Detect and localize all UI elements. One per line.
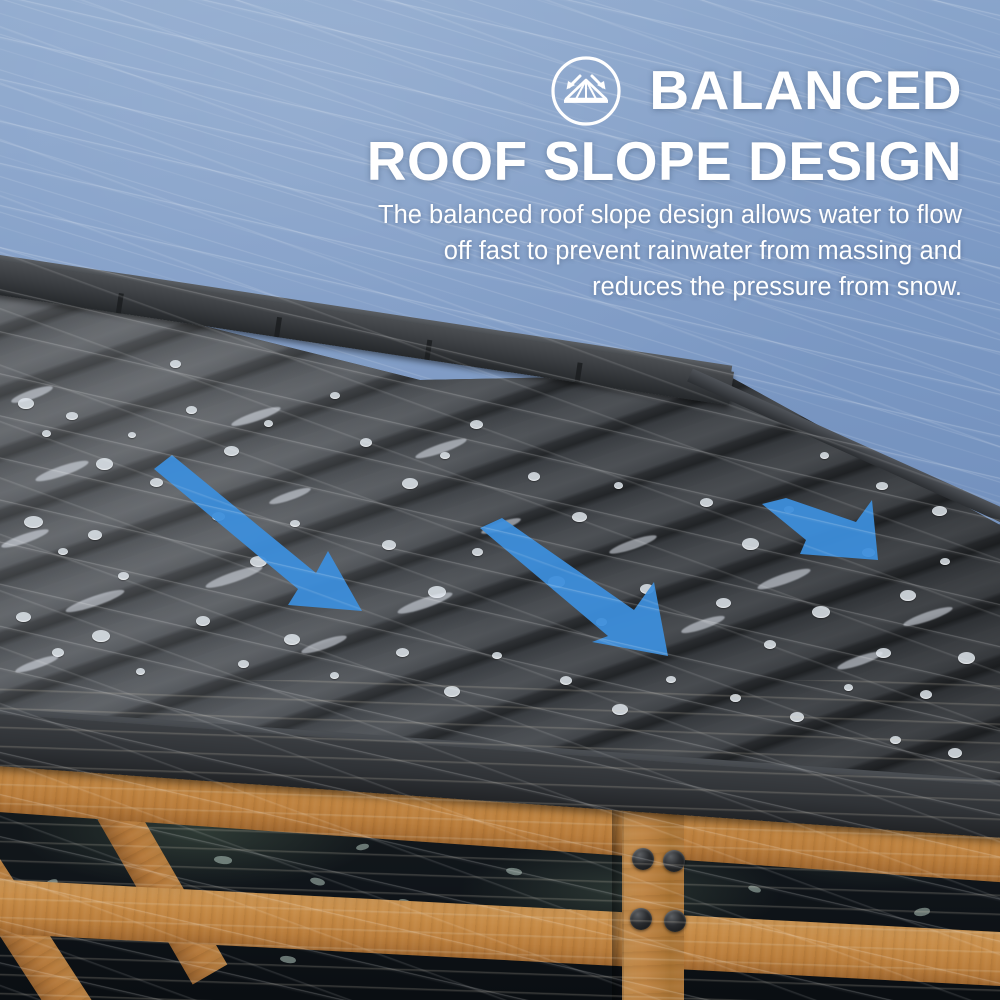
post-bolt-3 <box>632 848 654 870</box>
water-flow-arrow-center <box>478 518 708 678</box>
mid-rail-beam <box>0 878 1000 989</box>
water-flow-arrow-right <box>760 498 1000 628</box>
post-bolt-4 <box>663 850 685 872</box>
headline-line-2: ROOF SLOPE DESIGN <box>0 132 962 191</box>
body-copy-line-1: The balanced roof slope design allows wa… <box>0 197 962 233</box>
post-bolt-6 <box>664 910 686 932</box>
headline-block: BALANCED ROOF SLOPE DESIGN <box>0 54 1000 191</box>
body-copy-block: The balanced roof slope design allows wa… <box>0 197 1000 306</box>
body-copy-line-2: off fast to prevent rainwater from massi… <box>0 233 962 269</box>
water-flow-arrow-left <box>150 455 380 625</box>
infographic-canvas: BALANCED ROOF SLOPE DESIGN The balanced … <box>0 0 1000 1000</box>
roof-slope-runoff-icon <box>549 54 623 128</box>
body-copy-line-3: reduces the pressure from snow. <box>0 269 962 305</box>
post-bolt-5 <box>630 908 652 930</box>
headline-line-1: BALANCED <box>649 61 962 120</box>
